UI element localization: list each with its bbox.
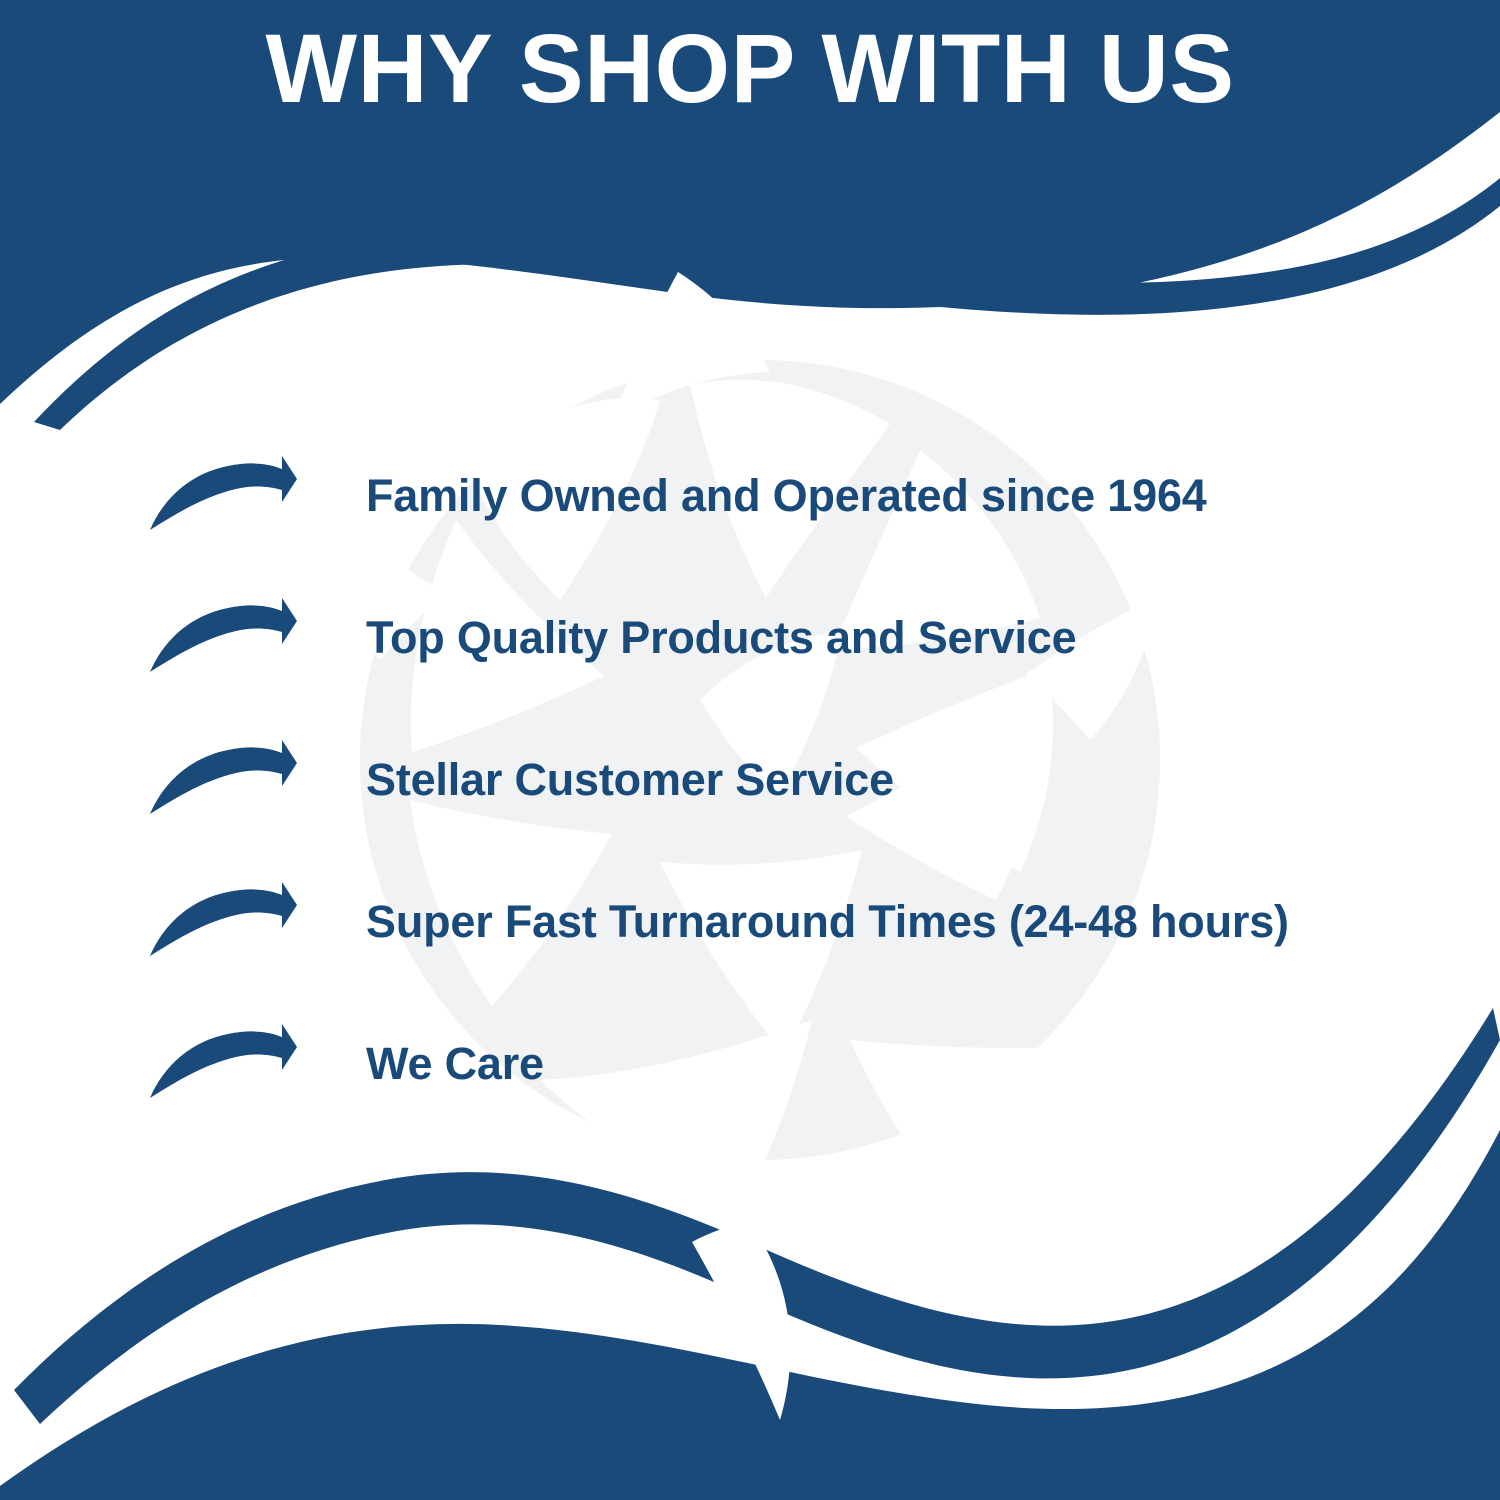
curved-arrow-right-icon	[148, 455, 298, 537]
benefit-label: Super Fast Turnaround Times (24-48 hours…	[366, 897, 1289, 947]
benefit-item: Stellar Customer Service	[0, 709, 1500, 851]
bottom-blue-footer-shape	[0, 1130, 1500, 1500]
curved-arrow-right-icon	[148, 881, 298, 963]
curved-arrow-right-icon	[148, 597, 298, 679]
benefit-item: Family Owned and Operated since 1964	[0, 425, 1500, 567]
benefit-label: Top Quality Products and Service	[366, 613, 1076, 663]
curved-arrow-right-icon	[148, 739, 298, 821]
benefit-label: Stellar Customer Service	[366, 755, 894, 805]
benefit-item: Top Quality Products and Service	[0, 567, 1500, 709]
benefit-item: We Care	[0, 993, 1500, 1135]
benefit-label: We Care	[366, 1039, 544, 1089]
curved-arrow-right-icon	[148, 1023, 298, 1105]
benefit-label: Family Owned and Operated since 1964	[366, 471, 1207, 521]
benefits-list: Family Owned and Operated since 1964 Top…	[0, 425, 1500, 1135]
benefit-item: Super Fast Turnaround Times (24-48 hours…	[0, 851, 1500, 993]
promo-graphic: WHY SHOP WITH US Family Owned and Operat…	[0, 0, 1500, 1500]
page-title: WHY SHOP WITH US	[0, 18, 1500, 120]
